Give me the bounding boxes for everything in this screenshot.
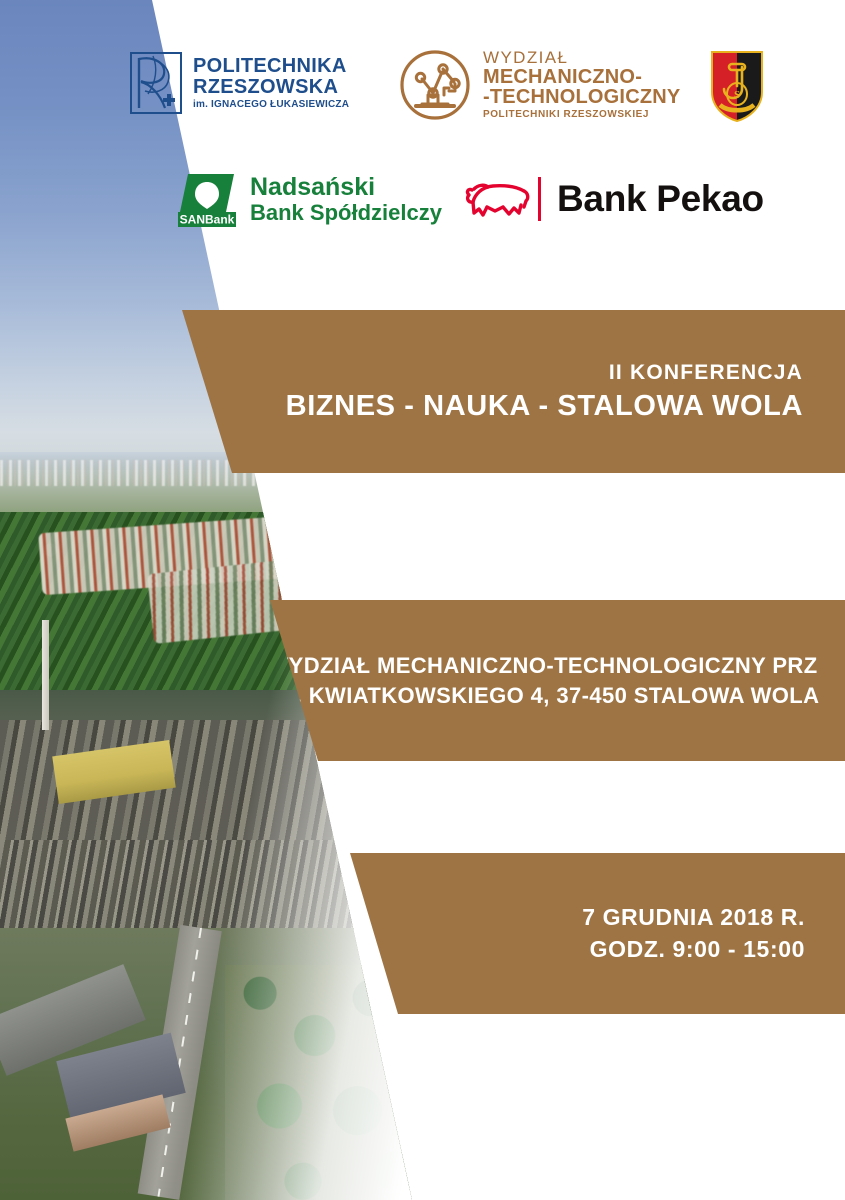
- title-band: II KONFERENCJA BIZNES - NAUKA - STALOWA …: [182, 310, 845, 473]
- photo-tree-cluster: [225, 965, 420, 1200]
- nb-wordmark: Nadsański Bank Spółdzielczy: [250, 173, 442, 226]
- venue-line-2: UL. KWIATKOWSKIEGO 4, 37-450 STALOWA WOL…: [266, 681, 820, 710]
- conference-headline: BIZNES - NAUKA - STALOWA WOLA: [286, 391, 803, 423]
- wmt-line-1: WYDZIAŁ: [483, 49, 680, 66]
- pr-line-2: RZESZOWSKA: [193, 77, 349, 98]
- pr-monogram-icon: [130, 52, 182, 114]
- pr-wordmark: POLITECHNIKA RZESZOWSKA im. IGNACEGO ŁUK…: [193, 56, 349, 111]
- logo-bank-pekao: Bank Pekao: [462, 176, 764, 222]
- venue-line-1: WYDZIAŁ MECHANICZNO-TECHNOLOGICZNY PRZ: [267, 651, 817, 680]
- nb-line-2: Bank Spółdzielczy: [250, 201, 442, 226]
- date-line: 7 GRUDNIA 2018 R.: [582, 902, 805, 933]
- sponsor-logos-row-1: POLITECHNIKA RZESZOWSKA im. IGNACEGO ŁUK…: [0, 40, 845, 150]
- wmt-line-3: -TECHNOLOGICZNY: [483, 87, 680, 107]
- pekao-wordmark: Bank Pekao: [557, 178, 764, 220]
- sanbank-mark-label: SANBank: [180, 213, 235, 227]
- logo-stalowa-wola-crest: S: [708, 48, 766, 129]
- robot-arm-icon: [398, 48, 472, 122]
- conference-poster: POLITECHNIKA RZESZOWSKA im. IGNACEGO ŁUK…: [0, 0, 845, 1200]
- pekao-divider: [538, 177, 541, 221]
- nb-line-1: Nadsański: [250, 173, 442, 201]
- wmt-line-2: MECHANICZNO-: [483, 67, 680, 87]
- photo-chimney: [42, 620, 49, 730]
- shield-crest-icon: S: [708, 48, 766, 129]
- bison-icon: [462, 176, 534, 222]
- logo-wydzial-mechaniczno-technologiczny: WYDZIAŁ MECHANICZNO- -TECHNOLOGICZNY POL…: [398, 48, 680, 122]
- sponsor-logos-row-2: SANBank Nadsański Bank Spółdzielczy: [0, 160, 845, 250]
- logo-politechnika-rzeszowska: POLITECHNIKA RZESZOWSKA im. IGNACEGO ŁUK…: [130, 52, 349, 114]
- svg-text:S: S: [734, 89, 740, 101]
- conference-kicker: II KONFERENCJA: [609, 361, 803, 384]
- wmt-wordmark: WYDZIAŁ MECHANICZNO- -TECHNOLOGICZNY POL…: [483, 49, 680, 120]
- pr-line-3: im. IGNACEGO ŁUKASIEWICZA: [193, 100, 349, 111]
- pr-line-1: POLITECHNIKA: [193, 56, 349, 77]
- wmt-line-4: POLITECHNIKI RZESZOWSKIEJ: [483, 110, 680, 120]
- venue-band: WYDZIAŁ MECHANICZNO-TECHNOLOGICZNY PRZ U…: [270, 600, 845, 761]
- time-line: GODZ. 9:00 - 15:00: [590, 934, 805, 965]
- sanbank-apple-icon: SANBank: [176, 168, 238, 230]
- datetime-band: 7 GRUDNIA 2018 R. GODZ. 9:00 - 15:00: [350, 853, 845, 1014]
- logo-nadsanski-bank-spoldzielczy: SANBank Nadsański Bank Spółdzielczy: [176, 168, 442, 230]
